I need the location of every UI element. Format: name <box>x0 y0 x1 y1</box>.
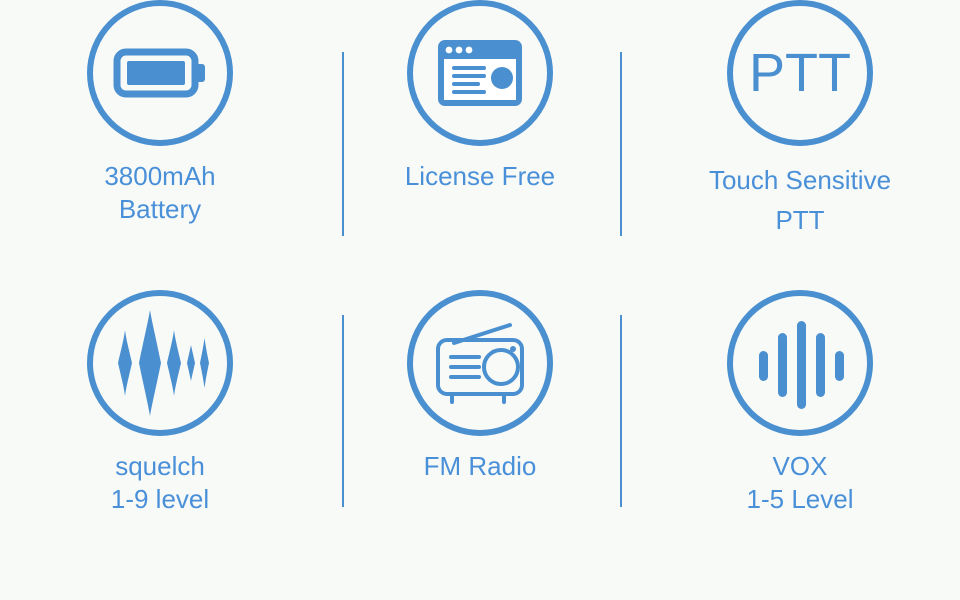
divider-bottom-left <box>342 315 344 507</box>
fm-radio-icon <box>407 290 553 436</box>
feature-card-license: License Free <box>320 0 640 290</box>
feature-caption: Touch Sensitive PTT <box>709 160 891 241</box>
feature-caption: VOX 1-5 Level <box>747 450 854 517</box>
ptt-label: PTT <box>749 46 851 100</box>
divider-top-left <box>342 52 344 236</box>
feature-card-fm-radio: FM Radio <box>320 290 640 580</box>
ptt-text-icon: PTT <box>727 0 873 146</box>
feature-grid: 3800mAh Battery License Free PTT Touch S… <box>0 0 960 600</box>
divider-top-right <box>620 52 622 236</box>
divider-bottom-right <box>620 315 622 507</box>
license-window-icon <box>407 0 553 146</box>
feature-card-vox: VOX 1-5 Level <box>640 290 960 580</box>
feature-caption: License Free <box>405 160 555 193</box>
squelch-waveform-icon <box>87 290 233 436</box>
feature-caption: FM Radio <box>424 450 537 483</box>
vox-bars-icon <box>727 290 873 436</box>
feature-caption: squelch 1-9 level <box>111 450 209 517</box>
feature-caption: 3800mAh Battery <box>104 160 215 227</box>
feature-card-battery: 3800mAh Battery <box>0 0 320 290</box>
feature-card-squelch: squelch 1-9 level <box>0 290 320 580</box>
battery-icon <box>87 0 233 146</box>
feature-card-ptt: PTT Touch Sensitive PTT <box>640 0 960 290</box>
